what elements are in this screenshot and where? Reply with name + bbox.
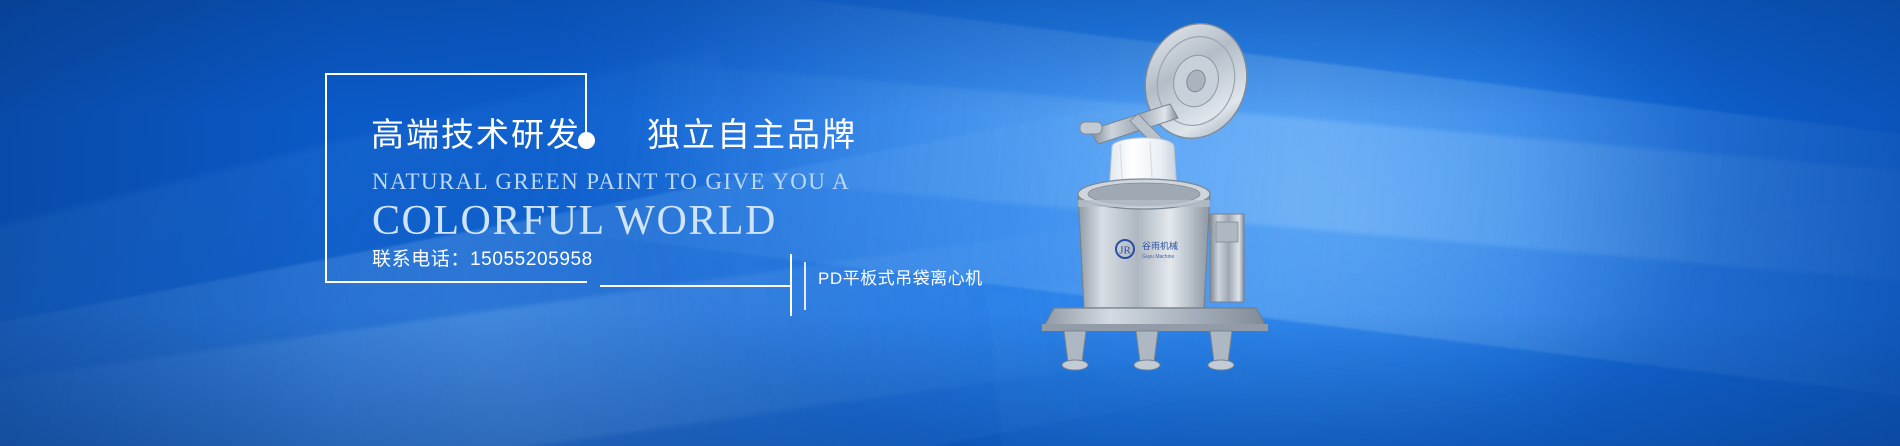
caption-tick-primary bbox=[790, 254, 792, 316]
slogan-english: COLORFUL WORLD bbox=[372, 200, 777, 242]
headline: 高端技术研发 独立自主品牌 bbox=[371, 118, 857, 151]
machine-motor-housing bbox=[1210, 214, 1244, 302]
machine-base-plate bbox=[1042, 308, 1268, 331]
svg-text:谷雨机械: 谷雨机械 bbox=[1142, 240, 1178, 251]
caption-leader-line bbox=[600, 285, 790, 287]
product-image-centrifuge: JR 谷雨机械 Guyu Machine bbox=[1020, 18, 1310, 378]
svg-text:Guyu Machine: Guyu Machine bbox=[1142, 254, 1174, 260]
svg-text:JR: JR bbox=[1119, 245, 1131, 257]
product-caption: PD平板式吊袋离心机 bbox=[818, 270, 983, 287]
promo-banner: 高端技术研发 独立自主品牌 NATURAL GREEN PAINT TO GIV… bbox=[0, 0, 1900, 446]
decorative-frame-top-extension bbox=[325, 73, 587, 75]
caption-tick-secondary bbox=[804, 262, 806, 310]
background-vignette bbox=[0, 0, 1900, 446]
headline-left-text: 高端技术研发 bbox=[371, 118, 581, 151]
subtitle-english: NATURAL GREEN PAINT TO GIVE YOU A bbox=[372, 170, 850, 193]
machine-legs bbox=[1062, 331, 1234, 370]
contact-phone: 联系电话：15055205958 bbox=[372, 250, 593, 269]
machine-drum: JR 谷雨机械 Guyu Machine bbox=[1078, 179, 1210, 308]
headline-right-text: 独立自主品牌 bbox=[647, 118, 857, 151]
